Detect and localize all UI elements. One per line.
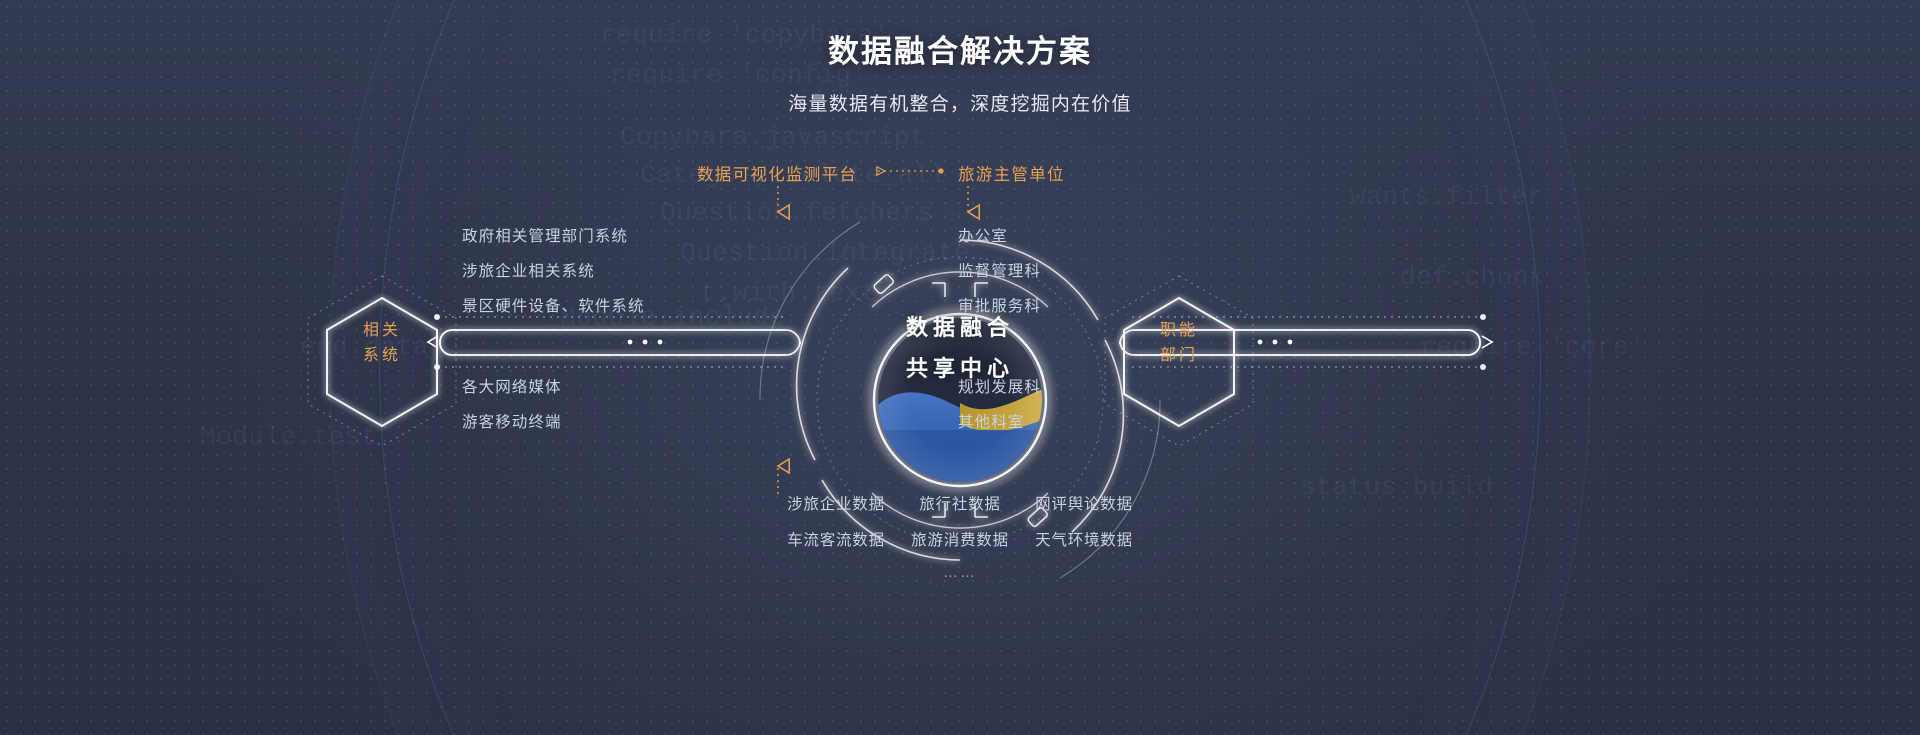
data-chip: 网评舆论数据 <box>1022 492 1146 514</box>
list-item: 政府相关管理部门系统 <box>462 224 645 246</box>
list-item: 审批服务科 <box>958 294 1041 316</box>
data-chip: 旅行社数据 <box>898 492 1022 514</box>
top-horizontal-arrow <box>878 168 944 173</box>
page-header: 数据融合解决方案 海量数据有机整合，深度挖掘内在价值 <box>0 26 1920 116</box>
left-hexagon-label-line1: 相关 <box>338 318 426 343</box>
left-hexagon-label-line2: 系统 <box>338 343 426 368</box>
bottom-data-grid: 涉旅企业数据 旅行社数据 网评舆论数据 车流客流数据 旅游消费数据 天气环境数据… <box>0 492 1920 581</box>
diagram-stage: require 'copybara'require 'config'Copyba… <box>0 0 1920 735</box>
list-item: 办公室 <box>958 224 1041 246</box>
list-item: 规划发展科 <box>958 375 1041 397</box>
list-item: 监督管理科 <box>958 259 1041 281</box>
left-hexagon-label: 相关 系统 <box>338 318 426 368</box>
label-visualization-platform[interactable]: 数据可视化监测平台 <box>697 161 857 185</box>
left-sources-bottom-list: 各大网络媒体 游客移动终端 <box>462 375 562 445</box>
data-chip: 天气环境数据 <box>1022 528 1146 550</box>
left-sources-top-list: 政府相关管理部门系统 涉旅企业相关系统 景区硬件设备、软件系统 <box>462 224 645 329</box>
page-title: 数据融合解决方案 <box>0 26 1920 71</box>
right-hexagon-label-line1: 职能 <box>1135 318 1223 343</box>
list-item: 景区硬件设备、软件系统 <box>462 294 645 316</box>
bottom-data-ellipsis: …… <box>0 564 1920 581</box>
right-hexagon-label-line2: 部门 <box>1135 343 1223 368</box>
list-item: 各大网络媒体 <box>462 375 562 397</box>
right-departments-bottom-list: 规划发展科 其他科室 <box>958 375 1041 445</box>
data-chip: 旅游消费数据 <box>898 528 1022 550</box>
bottom-data-row-1: 涉旅企业数据 旅行社数据 网评舆论数据 <box>0 492 1920 514</box>
data-chip: 车流客流数据 <box>774 528 898 550</box>
label-governing-authority[interactable]: 旅游主管单位 <box>958 161 1065 185</box>
bottom-data-row-2: 车流客流数据 旅游消费数据 天气环境数据 <box>0 528 1920 550</box>
page-subtitle: 海量数据有机整合，深度挖掘内在价值 <box>0 89 1920 116</box>
data-chip: 涉旅企业数据 <box>774 492 898 514</box>
list-item: 游客移动终端 <box>462 410 562 432</box>
right-hexagon-label: 职能 部门 <box>1135 318 1223 368</box>
right-departments-top-list: 办公室 监督管理科 审批服务科 <box>958 224 1041 329</box>
list-item: 其他科室 <box>958 410 1041 432</box>
list-item: 涉旅企业相关系统 <box>462 259 645 281</box>
